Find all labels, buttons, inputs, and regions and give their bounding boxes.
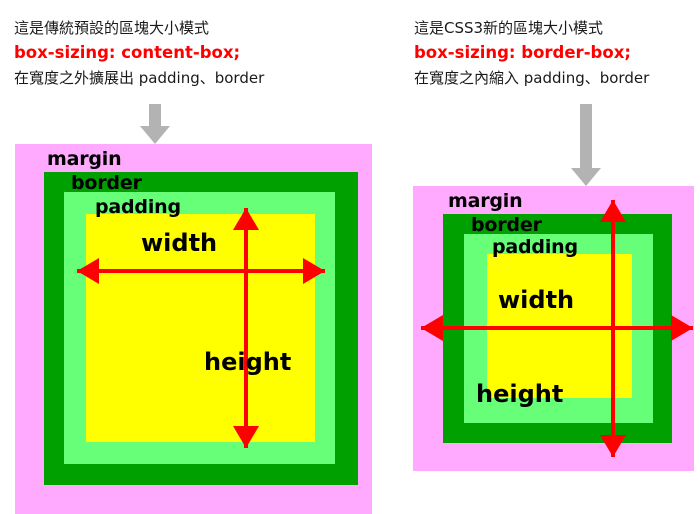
- margin-label: margin: [448, 190, 522, 212]
- height-label: height: [476, 380, 563, 408]
- arrow-head-left: [77, 258, 99, 284]
- left-caption-line1: 這是傳統預設的區塊大小模式: [14, 16, 264, 40]
- right-caption-line3: 在寬度之內縮入 padding、border: [414, 66, 649, 90]
- arrow-shaft: [580, 104, 592, 170]
- arrow-head-right: [671, 315, 693, 341]
- border-label: border: [71, 172, 142, 194]
- arrow-head: [140, 126, 170, 144]
- arrow-line: [611, 200, 615, 457]
- arrow-head-bottom: [233, 426, 259, 448]
- arrow-line: [421, 326, 693, 330]
- border-box-diagram: margin border padding width height: [413, 186, 694, 471]
- right-caption-block: 這是CSS3新的區塊大小模式 box-sizing: border-box; 在…: [414, 16, 649, 90]
- height-measure-arrow: [599, 200, 627, 457]
- content-box-diagram: margin border padding width height: [15, 144, 372, 514]
- arrow-head-bottom: [600, 435, 626, 457]
- arrow-line: [77, 269, 325, 273]
- padding-label: padding: [95, 196, 181, 218]
- width-measure-arrow: [77, 257, 325, 285]
- arrow-line: [244, 208, 248, 448]
- width-measure-arrow: [421, 314, 693, 342]
- arrow-head-top: [233, 208, 259, 230]
- width-label: width: [141, 229, 217, 257]
- arrow-head-left: [421, 315, 443, 341]
- right-caption-line1: 這是CSS3新的區塊大小模式: [414, 16, 649, 40]
- width-label: width: [498, 286, 574, 314]
- arrow-down-icon: [140, 104, 170, 144]
- border-label: border: [471, 214, 542, 236]
- arrow-down-icon: [571, 104, 601, 186]
- height-label: height: [204, 348, 291, 376]
- arrow-shaft: [149, 104, 161, 128]
- left-caption-block: 這是傳統預設的區塊大小模式 box-sizing: content-box; 在…: [14, 16, 264, 90]
- padding-label: padding: [492, 236, 578, 258]
- margin-label: margin: [47, 148, 121, 170]
- arrow-head: [571, 168, 601, 186]
- right-caption-code: box-sizing: border-box;: [414, 40, 649, 66]
- height-measure-arrow: [232, 208, 260, 448]
- left-caption-line3: 在寬度之外擴展出 padding、border: [14, 66, 264, 90]
- arrow-head-top: [600, 200, 626, 222]
- left-caption-code: box-sizing: content-box;: [14, 40, 264, 66]
- arrow-head-right: [303, 258, 325, 284]
